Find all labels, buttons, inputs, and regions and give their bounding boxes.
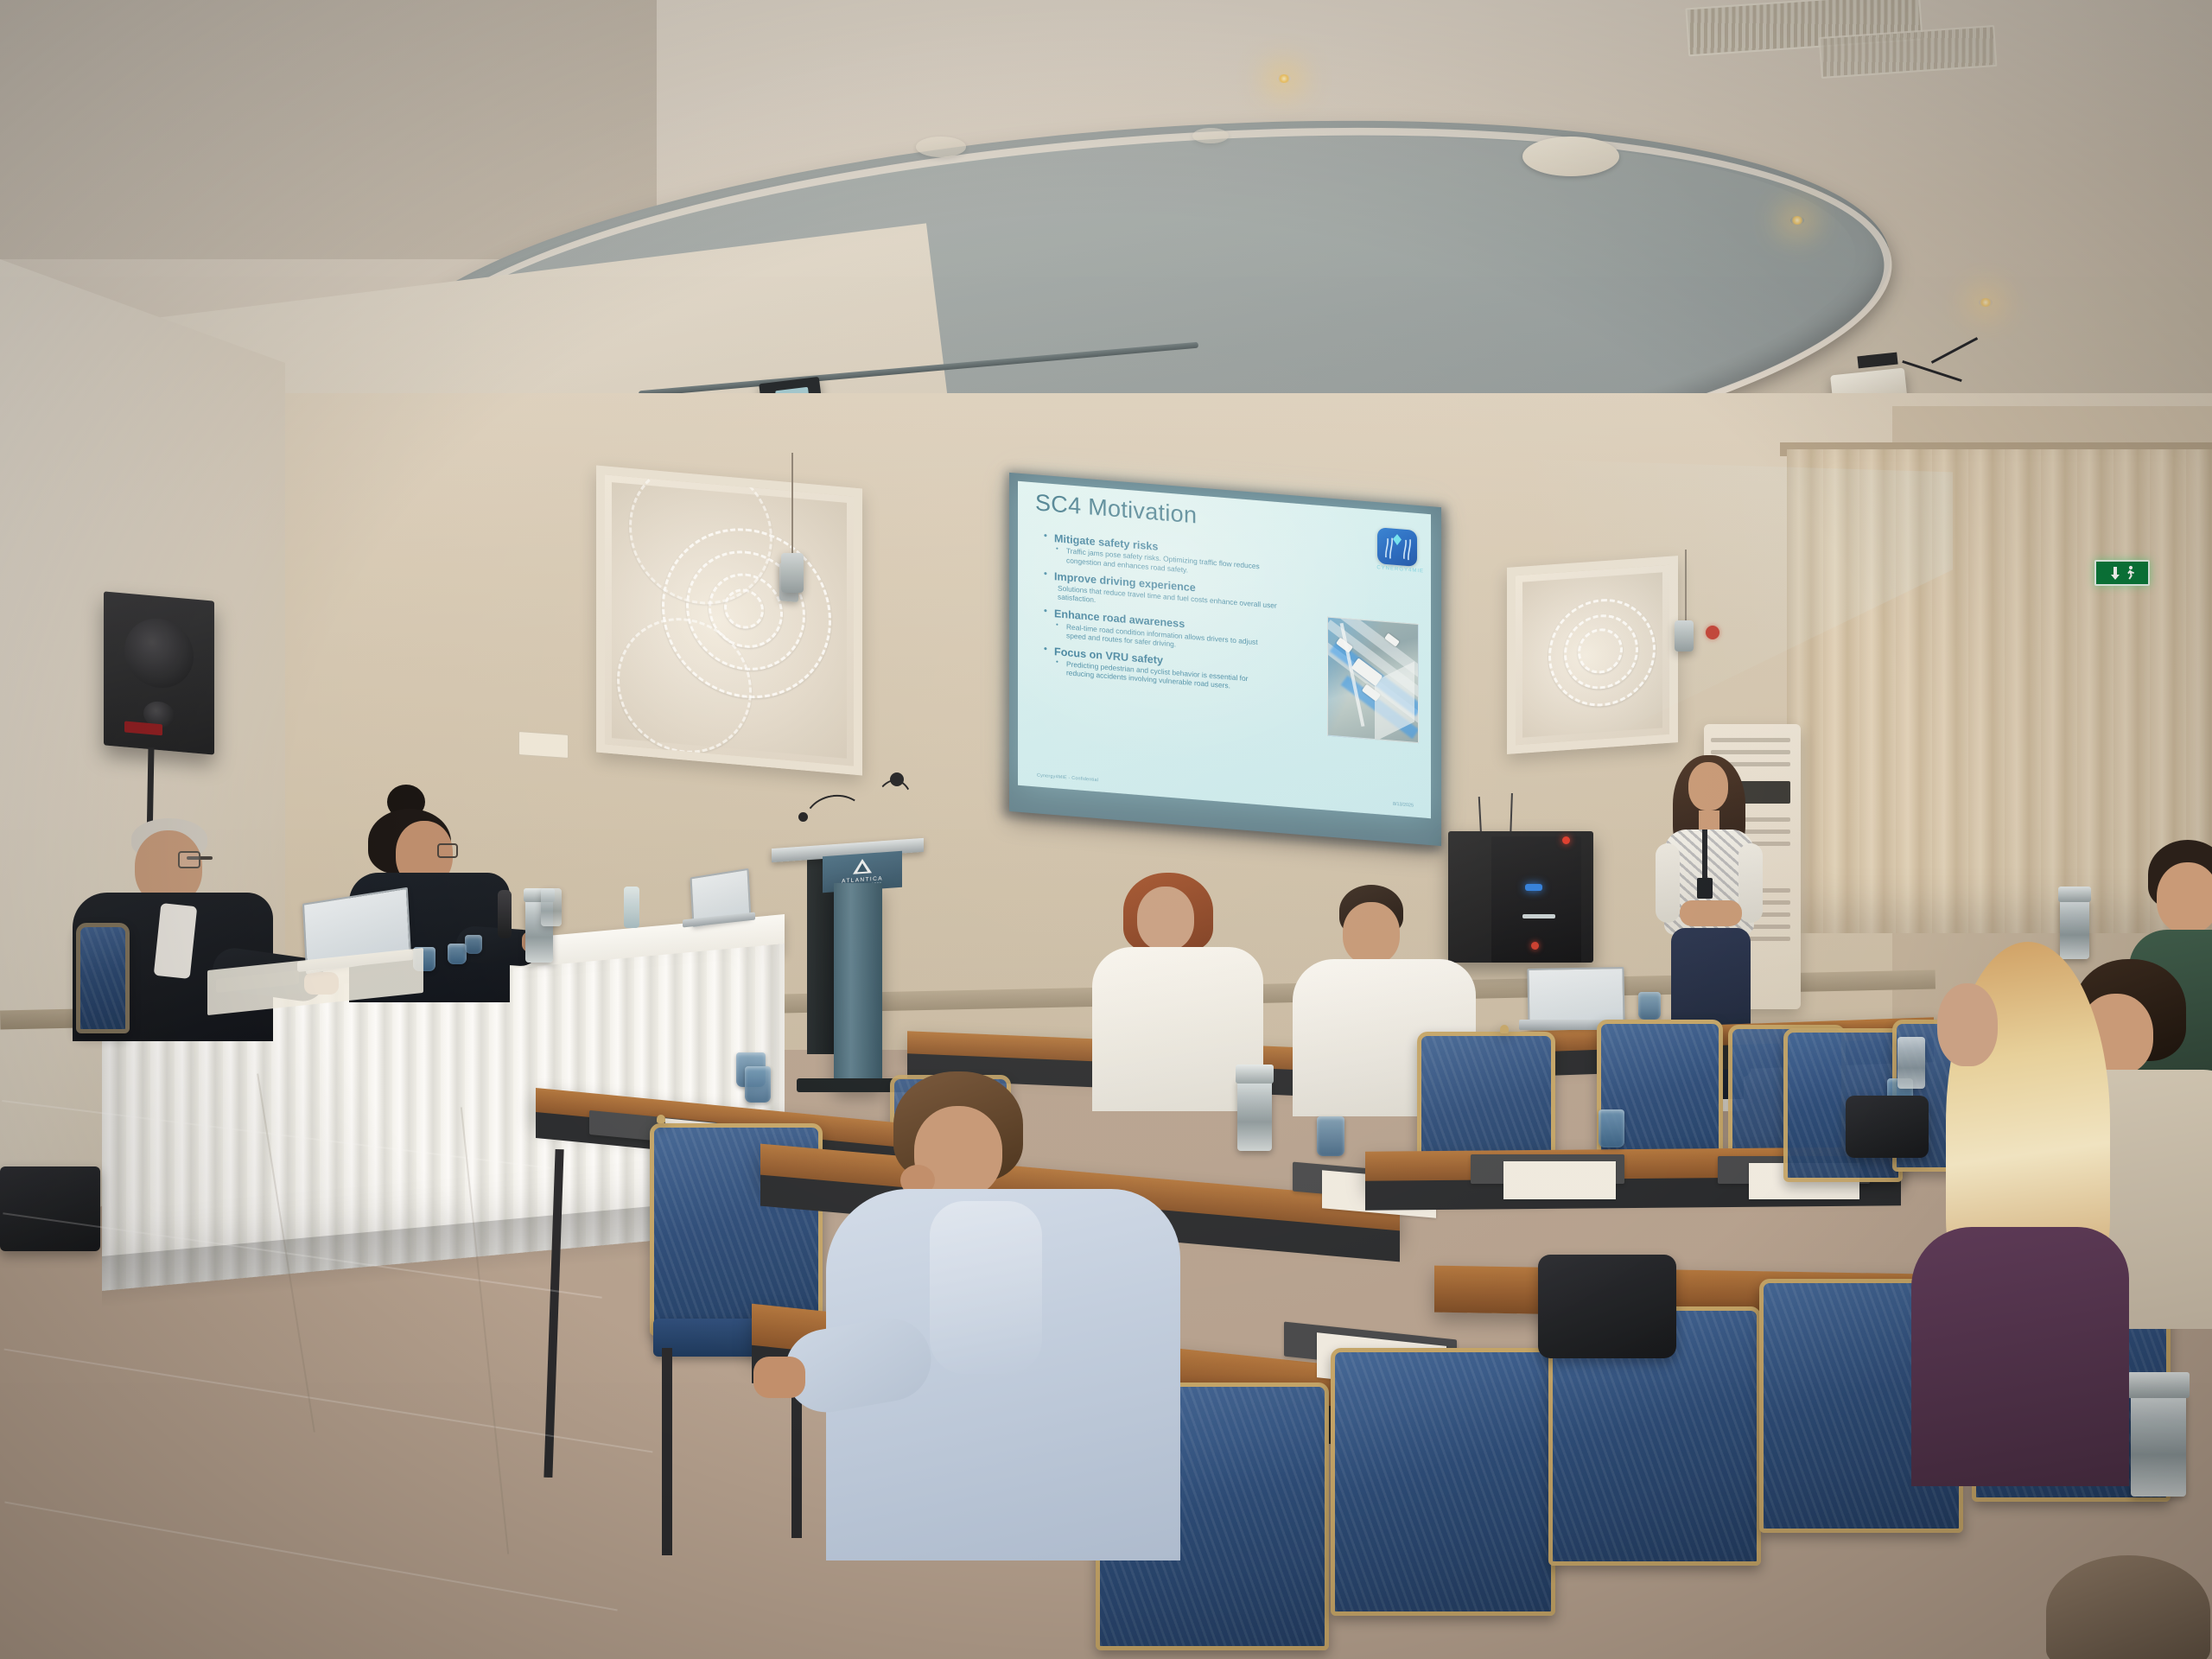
presentation-slide: SC4 Motivation CYNERGY4MIE Mitigate safe… (1018, 481, 1431, 818)
water-carafe[interactable] (541, 888, 562, 926)
head (2157, 862, 2212, 933)
speaker-badge (124, 721, 162, 736)
slide-title: SC4 Motivation (1035, 489, 1197, 529)
down-arrow-icon (2109, 565, 2121, 581)
lanyard (1702, 829, 1707, 880)
downlight (1277, 74, 1291, 83)
wall-socket (518, 731, 569, 759)
power-led (1562, 836, 1570, 844)
drinking-glass[interactable] (1638, 992, 1661, 1020)
art-panel-surface (1522, 572, 1662, 737)
chair-back[interactable] (1500, 1025, 1509, 1033)
drinking-glass[interactable] (1599, 1109, 1624, 1147)
slide-bullet-list: Mitigate safety risks Traffic jams pose … (1044, 531, 1277, 701)
window-curtains (1787, 449, 2212, 933)
head (1937, 983, 1998, 1066)
pendant-lamp (781, 553, 804, 593)
eyeglasses (178, 851, 200, 868)
ceiling-left-shade (0, 0, 657, 259)
status-led (1531, 942, 1539, 950)
hands-clasped (1680, 900, 1742, 926)
water-carafe[interactable] (1897, 1037, 1925, 1089)
drive-slot (1522, 914, 1555, 918)
eyeglasses (437, 843, 458, 858)
chair-back[interactable] (76, 923, 130, 1033)
relief-art-panel (596, 466, 862, 776)
ceiling-smoke-detector (1522, 137, 1619, 176)
chair-back[interactable] (657, 1115, 665, 1123)
shirt-collar (154, 903, 198, 979)
drinking-glass[interactable] (1317, 1116, 1344, 1156)
carafe-lid[interactable] (2058, 887, 2091, 902)
carafe-lid[interactable] (2127, 1372, 2190, 1398)
water-carafe[interactable] (2060, 899, 2089, 959)
shirt-highlight (930, 1201, 1042, 1374)
water-carafe[interactable] (1237, 1078, 1272, 1151)
microphone-head (890, 772, 904, 786)
pendant-cord (791, 453, 793, 556)
art-panel-surface (612, 482, 847, 759)
atlantica-triangle-icon (851, 857, 874, 876)
downlight (1790, 216, 1804, 225)
drinking-glass[interactable] (465, 935, 482, 954)
chair-back[interactable] (1331, 1348, 1555, 1616)
conference-room-scene: SC4 Motivation CYNERGY4MIE Mitigate safe… (0, 0, 2212, 1659)
microphone-head (798, 812, 808, 822)
water-carafe[interactable] (2131, 1393, 2186, 1497)
arm (1738, 843, 1763, 923)
pendant-lamp (1675, 620, 1694, 652)
hand (753, 1357, 805, 1398)
arm (1656, 843, 1680, 923)
microphone[interactable] (498, 890, 512, 938)
ceiling-speaker (916, 137, 966, 157)
relief-art-panel (1507, 556, 1678, 754)
chair-leg (662, 1348, 672, 1555)
head (1343, 902, 1400, 964)
water-bottle[interactable] (624, 887, 639, 928)
slide-highway-image (1327, 617, 1419, 744)
ceiling-sensor (1192, 128, 1229, 143)
drinking-glass[interactable] (448, 944, 467, 964)
pa-speaker (104, 591, 214, 754)
red-indicator-light (1706, 626, 1719, 639)
head (1688, 762, 1728, 810)
drinking-glass[interactable] (745, 1066, 771, 1103)
slide-footer-right: 8/13/2025 (1393, 802, 1414, 809)
notepad[interactable] (1503, 1161, 1616, 1199)
laptop-bag[interactable] (1846, 1096, 1929, 1158)
slide-footer-left: Cynergy4MIE - Confidential (1037, 773, 1098, 784)
slide-logo-caption: CYNERGY4MIE (1376, 565, 1424, 574)
hair (2046, 1555, 2210, 1659)
carafe-lid[interactable] (1236, 1065, 1274, 1084)
running-person-icon (2124, 565, 2136, 581)
laptop-bag[interactable] (1538, 1255, 1676, 1358)
neck (1699, 810, 1719, 831)
status-led (1525, 884, 1542, 891)
cynergy4mie-logo (1377, 527, 1417, 567)
torso (1911, 1227, 2129, 1486)
pendant-cord (1685, 550, 1687, 622)
downlight (1979, 298, 1993, 307)
badge (1697, 878, 1713, 899)
podium-column (834, 883, 882, 1089)
emergency-exit-sign (2094, 560, 2150, 586)
head (1137, 887, 1194, 950)
laptop-bag[interactable] (0, 1166, 100, 1251)
